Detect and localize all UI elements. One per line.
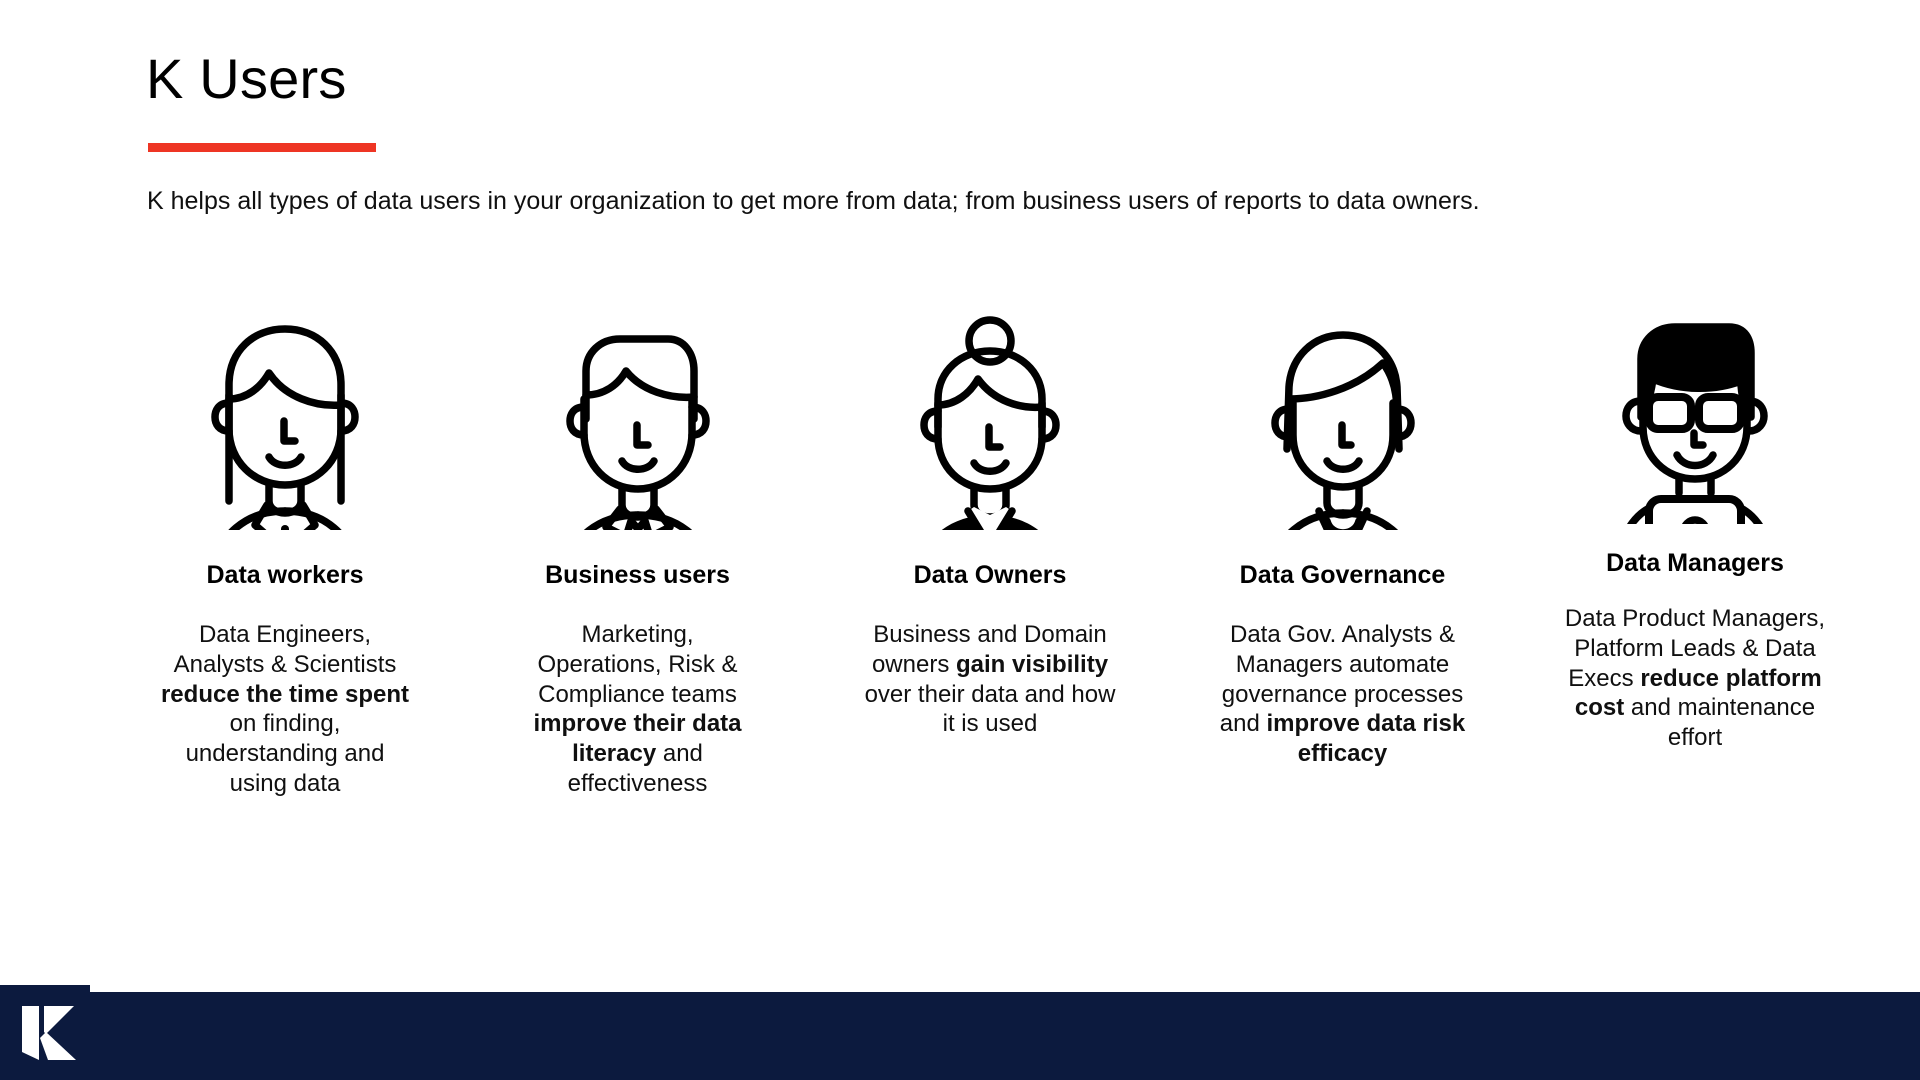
title-accent-rule — [148, 143, 376, 152]
persona-title: Data Managers — [1606, 548, 1784, 578]
persona-body: Business and Domain owners gain visibili… — [861, 620, 1119, 739]
persona-title: Data workers — [206, 560, 363, 590]
persona-card-data-managers: Data Managers Data Product Managers, Pla… — [1530, 300, 1860, 753]
page-title: K Users — [146, 48, 347, 110]
persona-body: Marketing, Operations, Risk & Compliance… — [531, 620, 745, 799]
persona-title: Data Owners — [914, 560, 1067, 590]
man-short-hair-tie-avatar — [538, 300, 738, 530]
woman-long-hair-blouse-avatar — [185, 300, 385, 530]
persona-card-data-governance: Data Governance Data Gov. Analysts & Man… — [1178, 300, 1508, 769]
persona-body: Data Engineers, Analysts & Scientists re… — [156, 620, 414, 799]
persona-card-business-users: Business users Marketing, Operations, Ri… — [473, 300, 803, 799]
persona-card-data-workers: Data workers Data Engineers, Analysts & … — [120, 300, 450, 799]
page-subtitle: K helps all types of data users in your … — [147, 185, 1480, 219]
k-logo — [20, 1004, 82, 1062]
man-glasses-laptop-avatar — [1595, 300, 1795, 524]
persona-card-data-owners: Data Owners Business and Domain owners g… — [825, 300, 1155, 739]
woman-hair-bun-black-top-avatar — [890, 300, 1090, 530]
persona-row: Data workers Data Engineers, Analysts & … — [120, 300, 1860, 799]
persona-title: Data Governance — [1240, 560, 1446, 590]
footer-bar — [0, 992, 1920, 1080]
persona-body: Data Gov. Analysts & Managers automate g… — [1219, 620, 1467, 769]
persona-title: Business users — [545, 560, 730, 590]
persona-body: Data Product Managers, Platform Leads & … — [1561, 604, 1829, 753]
woman-bob-hair-scarf-avatar — [1243, 300, 1443, 530]
slide-canvas: K Users K helps all types of data users … — [0, 0, 1920, 1080]
